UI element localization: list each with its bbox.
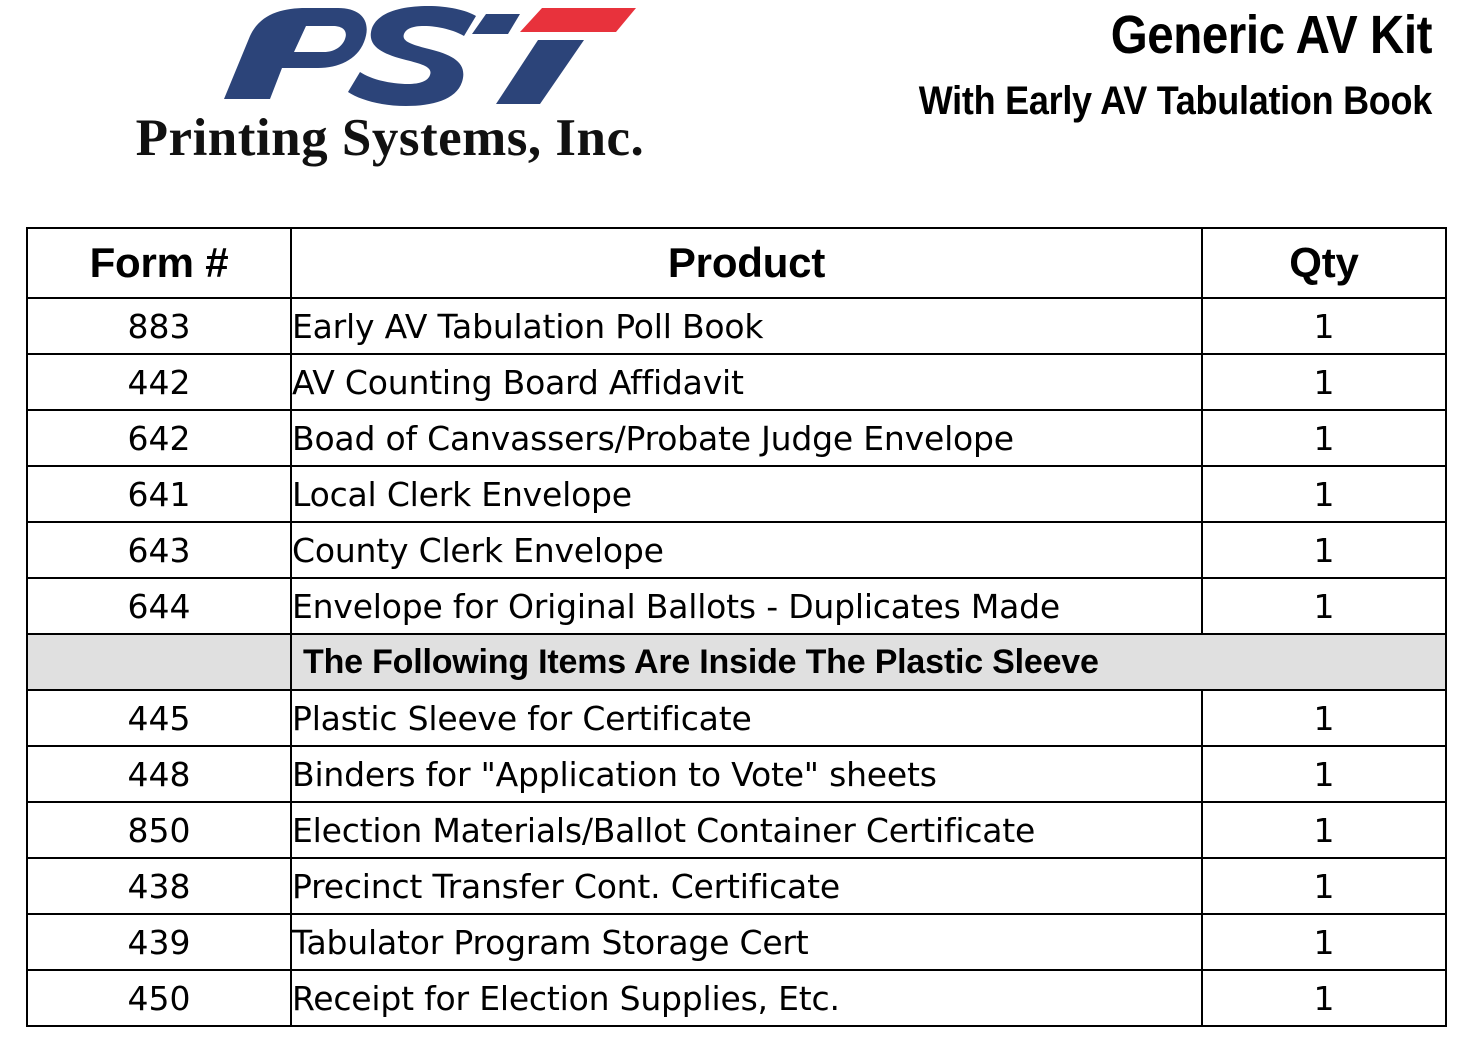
cell-product: Envelope for Original Ballots - Duplicat… (291, 578, 1202, 634)
cell-product: Boad of Canvassers/Probate Judge Envelop… (291, 410, 1202, 466)
table-row: 448Binders for "Application to Vote" she… (27, 746, 1446, 802)
cell-form-number: 438 (27, 858, 291, 914)
cell-qty: 1 (1202, 970, 1446, 1026)
cell-qty: 1 (1202, 914, 1446, 970)
kit-contents-table-wrapper: Form # Product Qty 883Early AV Tabulatio… (26, 227, 1445, 1027)
table-row: 450Receipt for Election Supplies, Etc.1 (27, 970, 1446, 1026)
company-wordmark: Printing Systems, Inc. (60, 108, 720, 168)
cell-qty: 1 (1202, 410, 1446, 466)
kit-contents-table: Form # Product Qty 883Early AV Tabulatio… (26, 227, 1447, 1027)
table-row: 438Precinct Transfer Cont. Certificate1 (27, 858, 1446, 914)
cell-product: Receipt for Election Supplies, Etc. (291, 970, 1202, 1026)
cell-qty: 1 (1202, 746, 1446, 802)
cell-product: Precinct Transfer Cont. Certificate (291, 858, 1202, 914)
table-row: 644Envelope for Original Ballots - Dupli… (27, 578, 1446, 634)
table-row: 643County Clerk Envelope1 (27, 522, 1446, 578)
cell-form-number: 643 (27, 522, 291, 578)
cell-form-number: 445 (27, 690, 291, 746)
table-row: 642Boad of Canvassers/Probate Judge Enve… (27, 410, 1446, 466)
cell-product: Election Materials/Ballot Container Cert… (291, 802, 1202, 858)
document-subtitle: With Early AV Tabulation Book (748, 76, 1432, 126)
table-header: Form # Product Qty (27, 228, 1446, 298)
cell-qty: 1 (1202, 522, 1446, 578)
column-header-form-number: Form # (27, 228, 291, 298)
cell-product: County Clerk Envelope (291, 522, 1202, 578)
company-branding: Printing Systems, Inc. (60, 4, 720, 179)
cell-form-number: 850 (27, 802, 291, 858)
cell-form-number: 641 (27, 466, 291, 522)
cell-form-number: 883 (27, 298, 291, 354)
cell-qty: 1 (1202, 466, 1446, 522)
cell-form-number: 442 (27, 354, 291, 410)
document-page: Printing Systems, Inc. Generic AV Kit Wi… (0, 0, 1470, 1059)
document-title: Generic AV Kit (763, 2, 1432, 68)
cell-qty: 1 (1202, 690, 1446, 746)
table-row: 442AV Counting Board Affidavit1 (27, 354, 1446, 410)
cell-qty: 1 (1202, 802, 1446, 858)
cell-product: Tabulator Program Storage Cert (291, 914, 1202, 970)
table-row: 850Election Materials/Ballot Container C… (27, 802, 1446, 858)
cell-qty: 1 (1202, 858, 1446, 914)
table-header-row: Form # Product Qty (27, 228, 1446, 298)
table-body: 883Early AV Tabulation Poll Book1442AV C… (27, 298, 1446, 1026)
section-row-blank-cell (27, 634, 291, 690)
title-block: Generic AV Kit With Early AV Tabulation … (672, 2, 1432, 126)
cell-qty: 1 (1202, 354, 1446, 410)
section-row-label: The Following Items Are Inside The Plast… (291, 634, 1446, 690)
cell-product: Binders for "Application to Vote" sheets (291, 746, 1202, 802)
cell-product: Local Clerk Envelope (291, 466, 1202, 522)
cell-product: Early AV Tabulation Poll Book (291, 298, 1202, 354)
cell-product: AV Counting Board Affidavit (291, 354, 1202, 410)
document-header: Printing Systems, Inc. Generic AV Kit Wi… (0, 0, 1470, 214)
cell-product: Plastic Sleeve for Certificate (291, 690, 1202, 746)
cell-qty: 1 (1202, 578, 1446, 634)
cell-qty: 1 (1202, 298, 1446, 354)
cell-form-number: 448 (27, 746, 291, 802)
cell-form-number: 642 (27, 410, 291, 466)
psi-logo-icon (220, 4, 640, 112)
table-row: 641Local Clerk Envelope1 (27, 466, 1446, 522)
column-header-qty: Qty (1202, 228, 1446, 298)
table-section-row: The Following Items Are Inside The Plast… (27, 634, 1446, 690)
table-row: 445Plastic Sleeve for Certificate1 (27, 690, 1446, 746)
cell-form-number: 644 (27, 578, 291, 634)
column-header-product: Product (291, 228, 1202, 298)
cell-form-number: 450 (27, 970, 291, 1026)
table-row: 439Tabulator Program Storage Cert1 (27, 914, 1446, 970)
cell-form-number: 439 (27, 914, 291, 970)
table-row: 883Early AV Tabulation Poll Book1 (27, 298, 1446, 354)
